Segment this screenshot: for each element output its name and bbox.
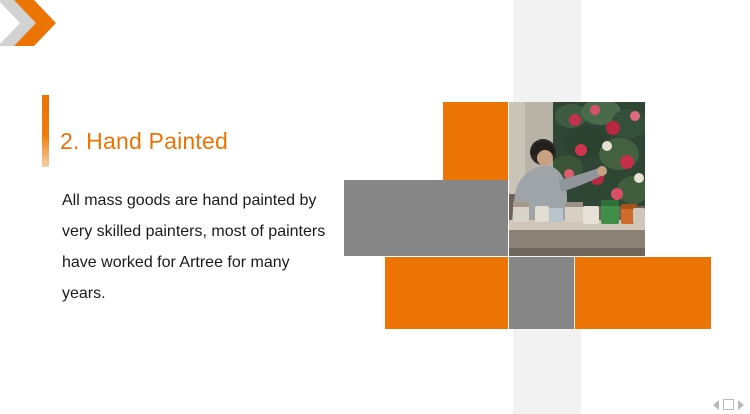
chevron-orange-icon	[14, 0, 56, 46]
collage-block-orange-bottom-right	[575, 257, 711, 329]
stop-slide-icon[interactable]	[723, 399, 734, 410]
next-slide-icon[interactable]	[738, 400, 744, 410]
painter-photo-illustration	[509, 102, 645, 256]
painter-photo	[509, 102, 645, 256]
collage-block-gray-middle	[344, 180, 508, 256]
collage-block-orange-bottom-left	[385, 257, 508, 329]
previous-slide-icon[interactable]	[713, 400, 719, 410]
page-title: 2. Hand Painted	[60, 128, 228, 155]
collage-block-gray-bottom	[509, 257, 574, 329]
page-controls[interactable]	[713, 399, 744, 410]
collage-block-orange-top	[443, 102, 508, 180]
slide: 2. Hand Painted All mass goods are hand …	[0, 0, 750, 414]
chevron-decoration	[0, 0, 64, 46]
title-accent-bar	[42, 95, 49, 167]
body-paragraph: All mass goods are hand painted by very …	[62, 185, 332, 309]
